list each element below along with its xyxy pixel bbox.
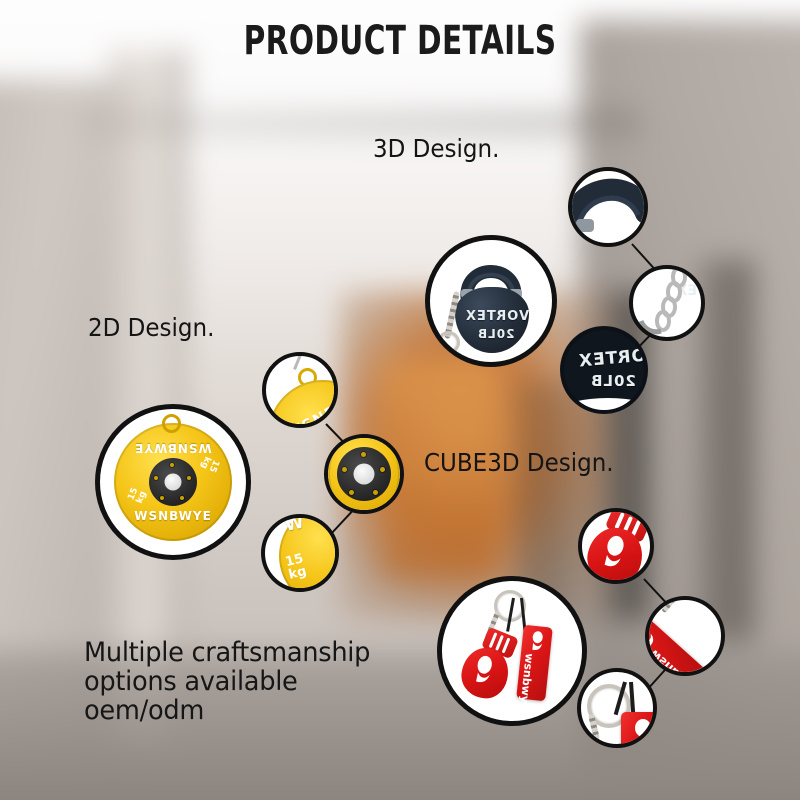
plate-bolt <box>380 467 385 472</box>
tag-brand: wsnbwye <box>517 653 536 711</box>
tag-brand-mirrored: wsnbwye <box>647 647 703 676</box>
tag-logo-icon <box>526 629 557 654</box>
bubble-2d-detail-hub <box>324 434 404 514</box>
weight-plate-hub-zoom <box>328 434 400 514</box>
boxing-glove <box>462 632 518 702</box>
plate-brand-partial: W <box>283 514 306 536</box>
plate-bolt <box>154 476 158 480</box>
bubble-2d-main: WSNBWYE WSNBWYE 15 kg 15 kg <box>95 404 251 560</box>
bubble-3d-detail-full: VORTEX 20LB <box>560 326 648 414</box>
kettlebell-keyring <box>437 331 460 354</box>
plate-bore-zoom <box>354 464 375 485</box>
label-3d-design: 3D Design. <box>373 134 499 163</box>
footer-line-3: oem/odm <box>84 696 370 725</box>
plate-bolt <box>160 496 164 500</box>
glove-mitt <box>457 644 512 702</box>
plate-weight-zoom: 15 kg <box>278 551 313 583</box>
bubble-cube3d-main: wsnbwye <box>437 576 587 726</box>
plate-brand-zoom: WSNBWYE <box>283 383 338 428</box>
plate-hook-ring <box>162 414 181 433</box>
rubber-tag-zoom: wsnbwye <box>645 596 707 676</box>
bubble-2d-detail-weight: W 15 kg <box>261 514 339 592</box>
footer-line-1: Multiple craftsmanship <box>84 638 370 667</box>
background-rack-right <box>700 260 754 640</box>
page-title: PRODUCT DETAILS <box>104 18 696 64</box>
plate-brand-bottom: WSNBWYE <box>134 509 212 523</box>
background-beam <box>80 110 640 136</box>
footer-line-2: options available <box>84 667 370 696</box>
bubble-3d-main: VORTEX 20LB <box>425 235 557 367</box>
plate-weight-left: 15 kg <box>125 481 151 512</box>
bubble-3d-detail-handle <box>568 167 648 247</box>
chain-segment <box>293 354 302 370</box>
kettlebell-weight-zoom: 20LB <box>590 372 636 390</box>
kettlebell-brand: VORTEX <box>465 309 529 324</box>
label-2d-design: 2D Design. <box>88 313 214 342</box>
plate-bolt <box>361 452 366 457</box>
plate-bolt <box>349 490 354 495</box>
weight-plate-weight-zoom: W 15 kg <box>279 514 339 592</box>
kettlebell-brand-zoom: VORTEX <box>577 344 648 371</box>
weight-plate-2d: WSNBWYE WSNBWYE 15 kg 15 kg <box>114 423 232 541</box>
weight-plate-zoom: WSNBWYE <box>268 380 338 428</box>
plate-bolt <box>187 476 191 480</box>
bubble-cube3d-detail-glove <box>578 508 654 584</box>
bubble-2d-detail-logo: WSNBWYE <box>262 352 338 428</box>
plate-bolt <box>170 463 174 467</box>
plate-bolt <box>180 496 184 500</box>
kettlebell-weight: 20LB <box>477 327 515 341</box>
footer-text: Multiple craftsmanship options available… <box>84 638 385 725</box>
plate-brand-top: WSNBWYE <box>134 441 212 455</box>
product-details-image: PRODUCT DETAILS 2D Design. 3D Design. CU… <box>0 0 800 800</box>
rubber-tag-zoom <box>621 712 657 748</box>
bubble-cube3d-detail-tag: wsnbwye <box>645 596 725 676</box>
plate-bolt <box>342 467 347 472</box>
label-cube3d-design: CUBE3D Design. <box>424 448 614 477</box>
bubble-cube3d-detail-keyring <box>577 668 657 748</box>
plate-bolt <box>373 490 378 495</box>
plate-bore <box>165 474 182 491</box>
glove-brand-mark-icon <box>457 644 512 702</box>
kettlebell-handle-zoom-icon <box>572 167 644 247</box>
tag-logo-icon <box>625 716 657 748</box>
kettlebell-3d: VORTEX 20LB <box>435 245 547 357</box>
rubber-tag: wsnbwye <box>516 625 553 702</box>
